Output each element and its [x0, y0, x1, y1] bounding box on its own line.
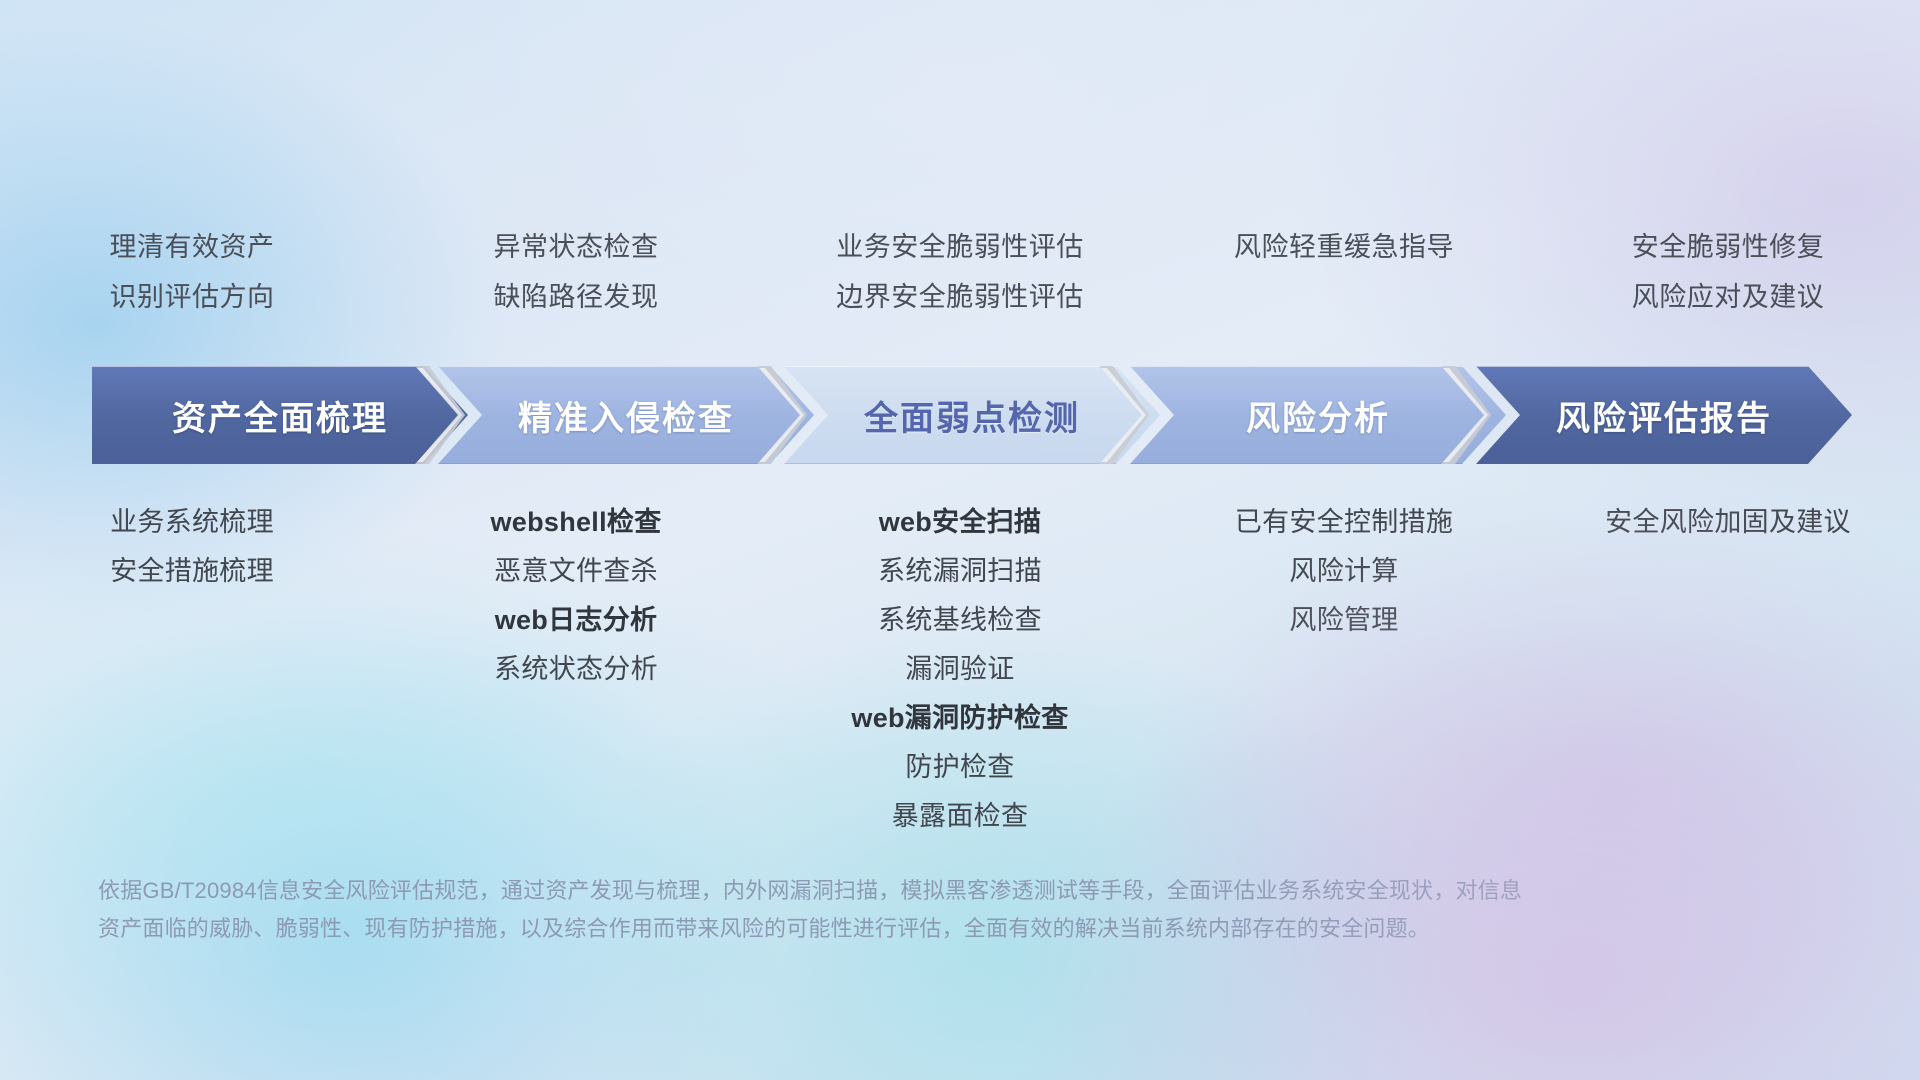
list-item: 业务系统梳理 [110, 498, 274, 547]
list-item: 系统状态分析 [494, 645, 658, 694]
list-item: web漏洞防护检查 [851, 694, 1068, 743]
bottom-list-col-risk-report: 安全风险加固及建议 [1536, 498, 1920, 547]
top-caption: 边界安全脆弱性评估 [836, 272, 1084, 322]
bottom-list-col-asset-inventory: 业务系统梳理 安全措施梳理 [0, 498, 384, 596]
stage-arrow-asset-inventory[interactable]: 资产全面梳理 [92, 366, 468, 464]
top-caption: 理清有效资产 [110, 222, 275, 272]
stage-arrow-label: 资产全面梳理 [172, 391, 388, 440]
stage-arrow-weakness-detection[interactable]: 全面弱点检测 [784, 366, 1160, 464]
bottom-list-col-intrusion-check: webshell检查 恶意文件查杀 web日志分析 系统状态分析 [384, 498, 768, 694]
footer-line-1: 依据GB/T20984信息安全风险评估规范，通过资产发现与梳理，内外网漏洞扫描，… [98, 872, 1838, 910]
list-item: 防护检查 [905, 743, 1014, 792]
top-caption-col-intrusion-check: 异常状态检查 缺陷路径发现 [384, 222, 768, 342]
top-caption: 业务安全脆弱性评估 [836, 222, 1084, 272]
stage-arrow-label: 精准入侵检查 [518, 391, 734, 440]
list-item: 安全措施梳理 [110, 547, 274, 596]
list-item: 已有安全控制措施 [1235, 498, 1453, 547]
top-caption-col-risk-analysis: 风险轻重缓急指导 [1152, 222, 1536, 342]
top-caption: 风险轻重缓急指导 [1234, 222, 1454, 272]
list-item: 系统漏洞扫描 [878, 547, 1042, 596]
top-caption-row: 理清有效资产 识别评估方向 异常状态检查 缺陷路径发现 业务安全脆弱性评估 边界… [0, 222, 1920, 342]
list-item: 暴露面检查 [892, 792, 1029, 841]
footer-line-2: 资产面临的威胁、脆弱性、现有防护措施，以及综合作用而带来风险的可能性进行评估，全… [98, 910, 1838, 948]
top-caption: 缺陷路径发现 [494, 272, 659, 322]
list-item: 漏洞验证 [905, 645, 1014, 694]
bottom-list-col-risk-analysis: 已有安全控制措施 风险计算 风险管理 [1152, 498, 1536, 645]
list-item: 恶意文件查杀 [494, 547, 658, 596]
list-item: webshell检查 [490, 498, 661, 547]
stage-arrow-label: 风险评估报告 [1556, 391, 1772, 440]
stage-arrow-risk-report[interactable]: 风险评估报告 [1476, 366, 1852, 464]
footer-description: 依据GB/T20984信息安全风险评估规范，通过资产发现与梳理，内外网漏洞扫描，… [98, 872, 1838, 948]
bottom-list-row: 业务系统梳理 安全措施梳理 webshell检查 恶意文件查杀 web日志分析 … [0, 498, 1920, 841]
list-item: 系统基线检查 [878, 596, 1042, 645]
list-item: web安全扫描 [879, 498, 1042, 547]
top-caption: 安全脆弱性修复 [1632, 222, 1825, 272]
top-caption-col-asset-inventory: 理清有效资产 识别评估方向 [0, 222, 384, 342]
list-item: web日志分析 [495, 596, 658, 645]
top-caption-col-weakness-detection: 业务安全脆弱性评估 边界安全脆弱性评估 [768, 222, 1152, 342]
stage-arrow-label: 全面弱点检测 [864, 391, 1080, 440]
stage-arrow-intrusion-check[interactable]: 精准入侵检查 [438, 366, 814, 464]
top-caption: 异常状态检查 [494, 222, 659, 272]
bottom-list-col-weakness-detection: web安全扫描 系统漏洞扫描 系统基线检查 漏洞验证 web漏洞防护检查 防护检… [768, 498, 1152, 841]
top-caption-col-risk-report: 安全脆弱性修复 风险应对及建议 [1536, 222, 1920, 342]
list-item: 风险管理 [1289, 596, 1398, 645]
list-item: 风险计算 [1289, 547, 1398, 596]
top-caption: 风险应对及建议 [1632, 272, 1825, 322]
top-caption: 识别评估方向 [110, 272, 275, 322]
slide-canvas: 理清有效资产 识别评估方向 异常状态检查 缺陷路径发现 业务安全脆弱性评估 边界… [0, 0, 1920, 1080]
stage-arrow-risk-analysis[interactable]: 风险分析 [1130, 366, 1506, 464]
process-arrow-band: 资产全面梳理 精准入侵检查 全面弱点检测 风险分析 风险评估报告 [92, 366, 1852, 464]
list-item: 安全风险加固及建议 [1605, 498, 1851, 547]
stage-arrow-label: 风险分析 [1246, 391, 1390, 440]
